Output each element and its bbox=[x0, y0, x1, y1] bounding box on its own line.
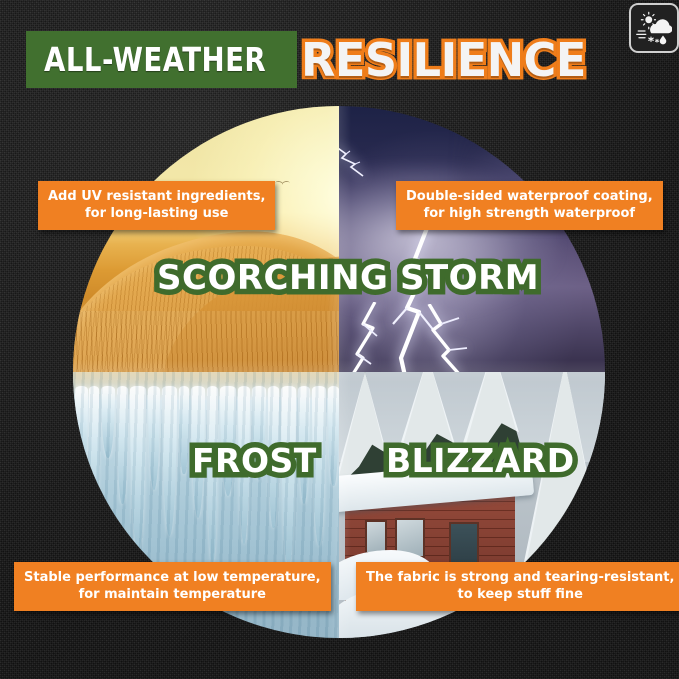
caption-storm: Double-sided waterproof coating, for hig… bbox=[396, 181, 663, 230]
title-all-weather: ALL-WEATHER bbox=[44, 40, 266, 79]
caption-blizzard: The fabric is strong and tearing-resista… bbox=[356, 562, 679, 611]
caption-line-2: to keep stuff fine bbox=[366, 586, 674, 603]
title-green-block: ALL-WEATHER bbox=[26, 31, 297, 88]
storm-scene-image bbox=[339, 106, 605, 372]
caption-line-2: for maintain temperature bbox=[24, 586, 321, 603]
poster-canvas: SCORCHING STORM FROST BLIZZARD Add UV re… bbox=[0, 0, 679, 679]
caption-line-1: The fabric is strong and tearing-resista… bbox=[366, 569, 674, 586]
bird-icon bbox=[275, 181, 291, 188]
header-banner: ALL-WEATHER RESILIENCE bbox=[26, 31, 653, 88]
caption-line-2: for long-lasting use bbox=[48, 205, 265, 222]
label-scorching: SCORCHING bbox=[157, 261, 388, 295]
desert-scene-image bbox=[73, 106, 339, 372]
lightning-bolt-icon bbox=[347, 302, 407, 372]
title-orange-block: RESILIENCE bbox=[295, 31, 601, 88]
quadrant-storm bbox=[339, 106, 605, 372]
sun-cloud-rain-snow-icon bbox=[636, 10, 672, 46]
lightning-bolt-icon bbox=[339, 142, 379, 182]
caption-line-1: Stable performance at low temperature, bbox=[24, 569, 321, 586]
title-resilience: RESILIENCE bbox=[301, 37, 586, 83]
label-blizzard: BLIZZARD bbox=[386, 444, 575, 477]
weather-badge bbox=[629, 3, 679, 53]
caption-scorching: Add UV resistant ingredients, for long-l… bbox=[38, 181, 275, 230]
caption-line-1: Add UV resistant ingredients, bbox=[48, 188, 265, 205]
caption-line-1: Double-sided waterproof coating, bbox=[406, 188, 653, 205]
caption-line-2: for high strength waterproof bbox=[406, 205, 653, 222]
dune-ripple-texture-near bbox=[73, 311, 339, 372]
lightning-bolt-icon bbox=[419, 304, 489, 372]
label-storm: STORM bbox=[400, 261, 539, 295]
cabin-window bbox=[365, 520, 387, 554]
quadrant-scorching bbox=[73, 106, 339, 372]
label-frost: FROST bbox=[192, 444, 317, 477]
caption-frost: Stable performance at low temperature, f… bbox=[14, 562, 331, 611]
